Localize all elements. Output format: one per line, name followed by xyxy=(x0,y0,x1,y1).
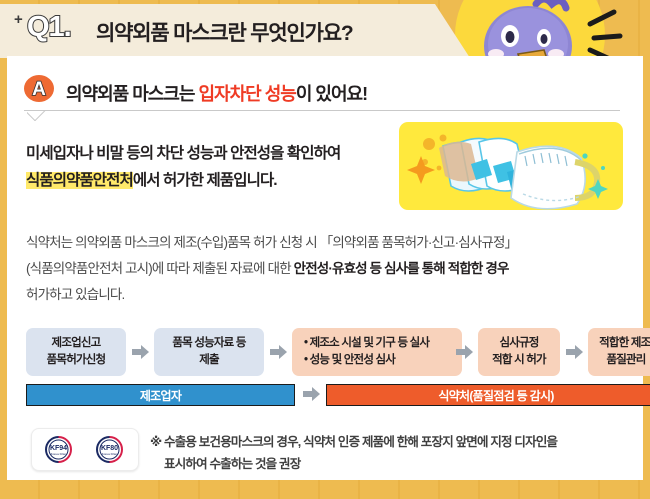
lead-line2-highlight: 식품의약품안전처 xyxy=(26,172,133,189)
kf80-badge-icon: KF80 Korea Filter xyxy=(96,436,123,463)
flow-bar-manufacturer: 제조업자 xyxy=(26,384,295,406)
answer-highlight: 입자차단 성능 xyxy=(198,84,295,104)
flow-bar-arrow-icon xyxy=(303,387,320,401)
flow-step-4-line-1: 심사규정 xyxy=(499,335,538,352)
svg-text:Korea Filter: Korea Filter xyxy=(51,452,67,456)
lead-line1-plain: 미세입자나 비말 등의 xyxy=(26,145,156,162)
body-line-3: 허가하고 있습니다. xyxy=(26,287,124,302)
mask-illustration xyxy=(399,122,623,210)
question-number: Q1. xyxy=(27,12,71,42)
flow-step-3-line-1: 제조소 시설 및 기구 등 실사 xyxy=(304,335,429,352)
footer-note: ※ 수출용 보건용마스크의 경우, 식약처 인증 제품에 한해 포장지 앞면에 … xyxy=(150,432,620,475)
svg-text:Korea Filter: Korea Filter xyxy=(102,452,118,456)
kf94-badge-icon: KF94 Korea Filter xyxy=(45,436,72,463)
flow-step-2-line-1: 품목 성능자료 등 xyxy=(172,335,245,352)
flow-step-5-line-2: 품질관리 xyxy=(606,352,645,369)
footer-note-line-2: 표시하여 수출하는 것을 권장 xyxy=(150,454,620,476)
flow-step-1-line-1: 제조업신고 xyxy=(52,335,101,352)
flow-step-4: 심사규정 적합 시 허가 xyxy=(478,328,560,376)
plus-icon: + xyxy=(14,12,23,27)
divider-notch-icon xyxy=(27,110,49,121)
flow-step-2-line-2: 제출 xyxy=(199,352,219,369)
flow-arrow-4-icon xyxy=(566,345,583,359)
lead-paragraph: 미세입자나 비말 등의 차단 성능과 안전성을 확인하여 식품의약품안전처에서 … xyxy=(26,140,396,194)
answer-badge-letter: A xyxy=(24,76,54,103)
infographic-page: + Q1. 의약외품 마스크란 무엇인가요? xyxy=(0,0,650,499)
lead-line1-bold: 차단 성능과 안전성을 확인하여 xyxy=(156,145,340,162)
svg-text:KF94: KF94 xyxy=(50,445,67,452)
flow-arrow-2-icon xyxy=(270,345,287,359)
answer-headline: 의약외품 마스크는 입자차단 성능이 있어요! xyxy=(66,80,367,106)
flow-arrow-3-icon xyxy=(456,345,473,359)
lead-line2-rest: 에서 허가한 제품입니다. xyxy=(133,172,277,189)
body-line-1: 식약처는 의약외품 마스크의 제조(수입)품목 허가 신청 시 「의약외품 품목… xyxy=(26,235,517,250)
body-line-2a: (식품의약품안전처 고시)에 따라 제출된 자료에 대한 xyxy=(26,261,294,276)
footer-note-line-1: ※ 수출용 보건용마스크의 경우, 식약처 인증 제품에 한해 포장지 앞면에 … xyxy=(150,435,557,449)
flow-step-5: 적합한 제조, 품질관리 xyxy=(588,328,650,376)
flow-step-1-line-2: 품목허가신청 xyxy=(47,352,106,369)
flow-step-2: 품목 성능자료 등 제출 xyxy=(154,328,264,376)
divider-line xyxy=(24,110,620,111)
flow-step-5-line-1: 적합한 제조, xyxy=(599,335,650,352)
flow-bar-mfds: 식약처(품질점검 등 감시) xyxy=(326,384,650,406)
process-flowchart: 제조업신고 품목허가신청 품목 성능자료 등 제출 제조소 시설 및 기구 등 … xyxy=(26,328,626,406)
flow-step-1: 제조업신고 품목허가신청 xyxy=(26,328,126,376)
page-title: 의약외품 마스크란 무엇인가요? xyxy=(96,17,352,47)
answer-suffix: 이 있어요! xyxy=(296,84,367,104)
flow-step-3-line-2: 성능 및 안전성 심사 xyxy=(304,352,395,369)
flow-step-4-line-2: 적합 시 허가 xyxy=(492,352,546,369)
flow-arrow-1-icon xyxy=(132,345,149,359)
answer-prefix: 의약외품 마스크는 xyxy=(66,84,198,104)
body-line-2b: 안전성·유효성 등 심사를 통해 적합한 경우 xyxy=(294,261,509,276)
body-paragraph: 식약처는 의약외품 마스크의 제조(수입)품목 허가 신청 시 「의약외품 품목… xyxy=(26,230,626,308)
svg-text:KF80: KF80 xyxy=(101,445,118,452)
flow-step-3: 제조소 시설 및 기구 등 실사 성능 및 안전성 심사 xyxy=(292,328,462,376)
kf-badge-card: KF94 Korea Filter KF80 Korea Filter xyxy=(31,428,139,471)
